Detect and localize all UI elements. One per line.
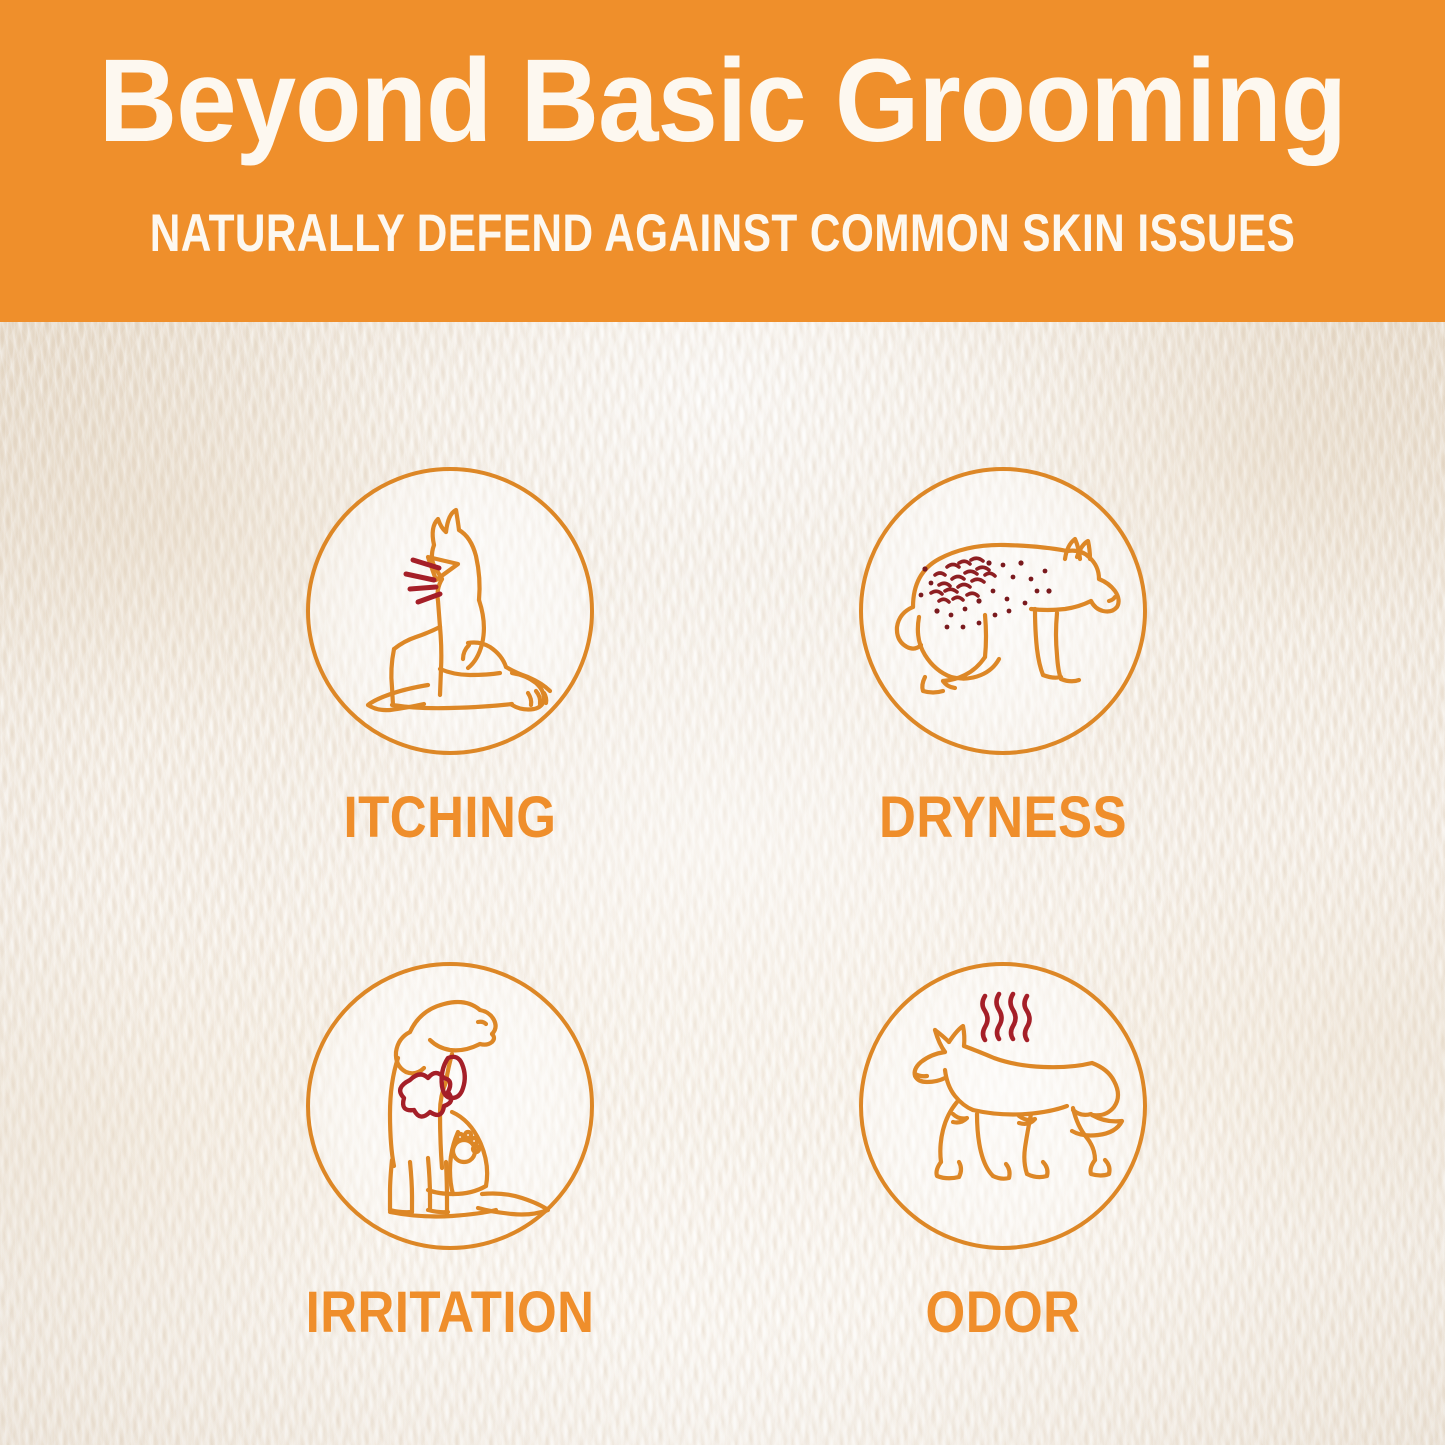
page-subtitle: NATURALLY DEFEND AGAINST COMMON SKIN ISS… [145,205,1301,263]
dog-dry-flaky-skin-icon [859,467,1147,755]
tile-label-itching: ITCHING [221,789,679,847]
tile-odor: ODOR [743,962,1263,1342]
tile-label-irritation: IRRITATION [221,1284,679,1342]
benefit-icon-grid: ITCHING [0,322,1445,1445]
dog-scratching-icon [306,467,594,755]
header-band: Beyond Basic Grooming NATURALLY DEFEND A… [0,0,1445,322]
icon-circle-irritation [306,962,594,1250]
dog-irritated-skin-patch-icon [306,962,594,1250]
icon-circle-itching [306,467,594,755]
icon-circle-dryness [859,467,1147,755]
tile-label-dryness: DRYNESS [774,789,1232,847]
poster-canvas: Beyond Basic Grooming NATURALLY DEFEND A… [0,0,1445,1445]
dog-odor-stink-lines-icon [859,962,1147,1250]
tile-itching: ITCHING [190,467,710,847]
tile-label-odor: ODOR [774,1284,1232,1342]
tile-irritation: IRRITATION [190,962,710,1342]
tile-dryness: DRYNESS [743,467,1263,847]
page-title: Beyond Basic Grooming [58,40,1387,164]
icon-circle-odor [859,962,1147,1250]
